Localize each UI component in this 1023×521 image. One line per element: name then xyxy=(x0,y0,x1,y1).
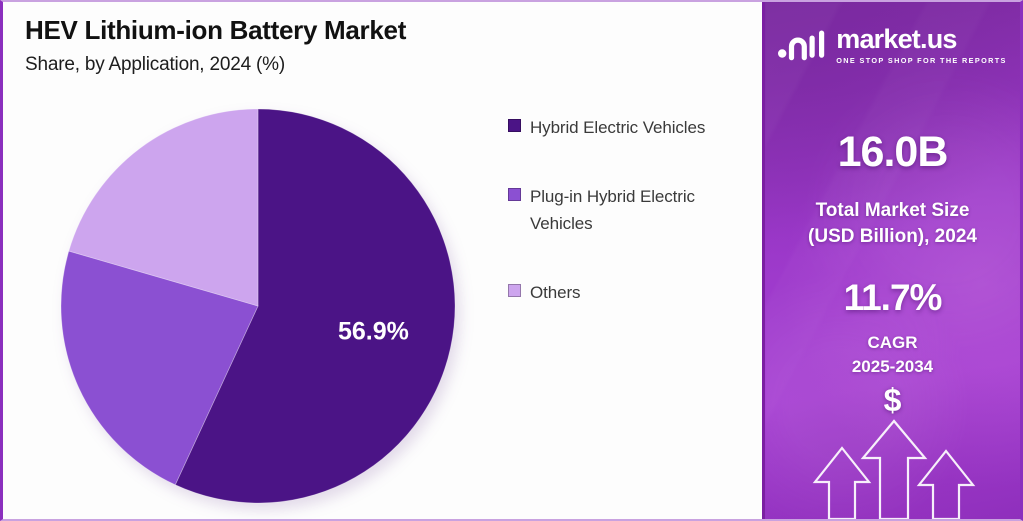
chart-pane: HEV Lithium-ion Battery Market Share, by… xyxy=(3,2,768,519)
chart-legend: Hybrid Electric Vehicles Plug-in Hybrid … xyxy=(508,114,748,347)
legend-item-label: Others xyxy=(530,279,580,307)
legend-swatch-icon xyxy=(508,119,521,132)
promo-panel: market.us ONE STOP SHOP FOR THE REPORTS … xyxy=(762,2,1020,519)
legend-item-others[interactable]: Others xyxy=(508,279,748,307)
legend-item-label: Hybrid Electric Vehicles xyxy=(530,114,705,142)
pie-svg: 56.9% xyxy=(58,106,458,506)
legend-item-hybrid-electric-vehicles[interactable]: Hybrid Electric Vehicles xyxy=(508,114,748,142)
legend-swatch-icon xyxy=(508,188,521,201)
growth-arrows-graphic: $ xyxy=(765,384,1020,519)
market-size-label: Total Market Size (USD Billion), 2024 xyxy=(765,198,1020,249)
market-size-label-line2: (USD Billion), 2024 xyxy=(765,224,1020,250)
cagr-value: 11.7% xyxy=(765,277,1020,319)
page-title: HEV Lithium-ion Battery Market xyxy=(25,16,406,46)
infographic-frame: HEV Lithium-ion Battery Market Share, by… xyxy=(0,0,1023,521)
brand-logo-text: market.us ONE STOP SHOP FOR THE REPORTS xyxy=(836,26,1007,65)
market-size-value: 16.0B xyxy=(765,128,1020,177)
pie-chart: 56.9% xyxy=(58,106,458,506)
brand-logo[interactable]: market.us ONE STOP SHOP FOR THE REPORTS xyxy=(765,26,1020,65)
dollar-sign-icon: $ xyxy=(765,382,1020,419)
brand-tagline: ONE STOP SHOP FOR THE REPORTS xyxy=(836,56,1007,65)
chart-header: HEV Lithium-ion Battery Market Share, by… xyxy=(25,16,406,76)
market-us-logo-icon xyxy=(778,29,828,62)
chart-subtitle: Share, by Application, 2024 (%) xyxy=(25,54,406,76)
legend-item-plug-in-hybrid-electric-vehicles[interactable]: Plug-in Hybrid Electric Vehicles xyxy=(508,183,748,238)
market-size-label-line1: Total Market Size xyxy=(765,198,1020,224)
cagr-label: CAGR 2025-2034 xyxy=(765,331,1020,379)
pie-slice-label-hev: 56.9% xyxy=(338,317,409,345)
cagr-label-line2: 2025-2034 xyxy=(765,355,1020,379)
legend-item-label: Plug-in Hybrid Electric Vehicles xyxy=(530,183,730,238)
cagr-label-line1: CAGR xyxy=(765,331,1020,355)
legend-swatch-icon xyxy=(508,284,521,297)
brand-name: market.us xyxy=(836,26,1007,53)
